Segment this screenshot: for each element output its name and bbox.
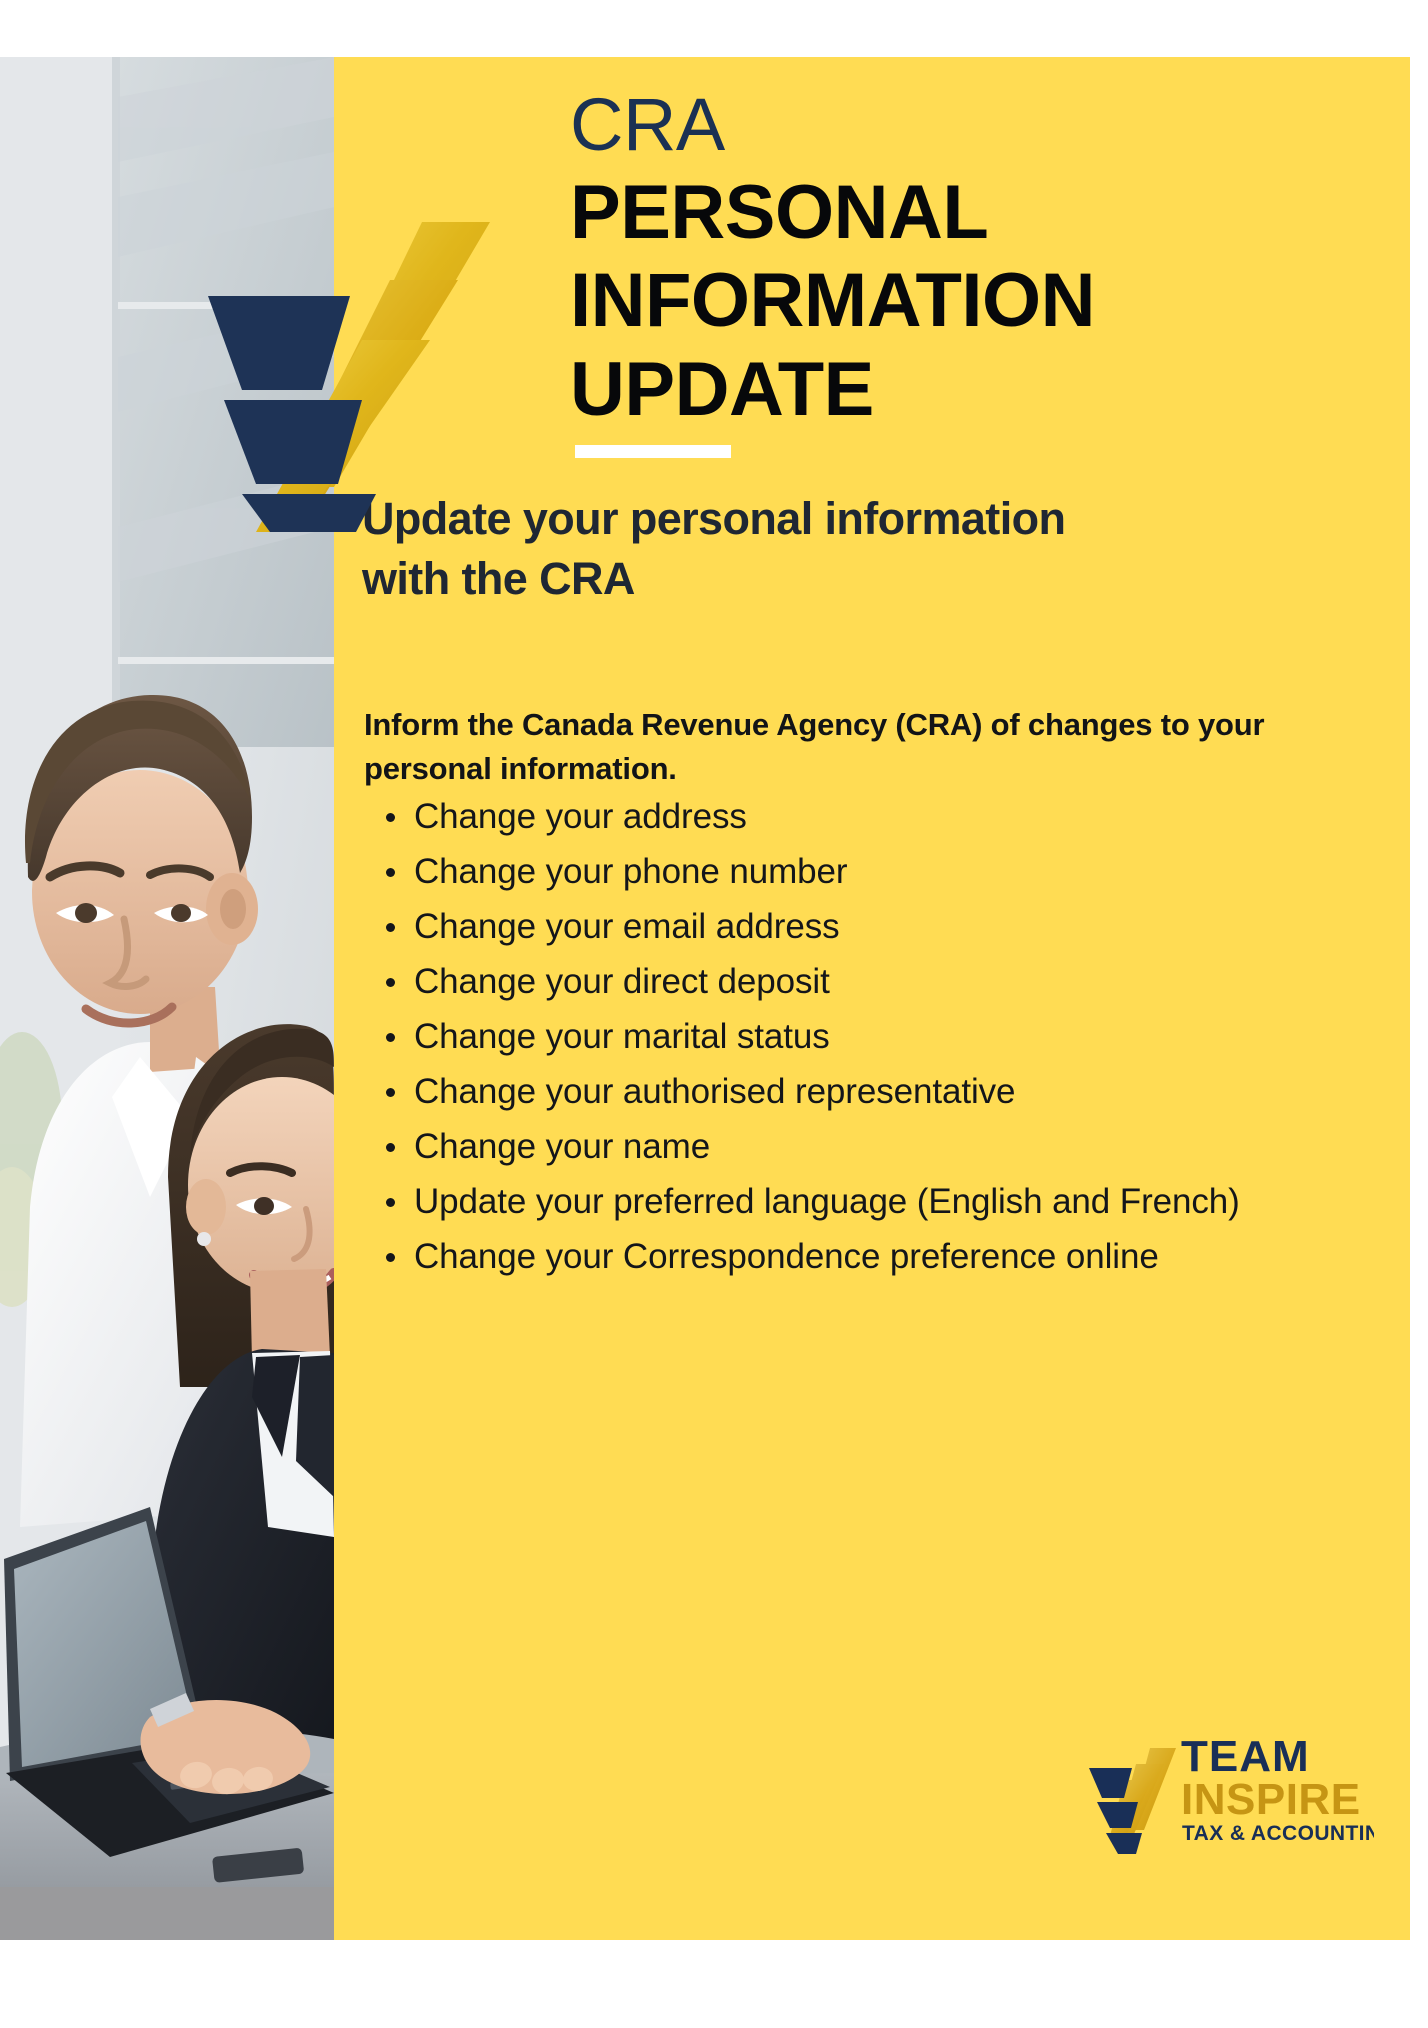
hero-photo-illustration xyxy=(0,57,334,1940)
list-item: Change your name xyxy=(414,1125,1410,1170)
hero-photo xyxy=(0,57,334,1940)
logo-word-inspire: INSPIRE xyxy=(1181,1775,1361,1824)
benefits-list: Change your address Change your phone nu… xyxy=(356,795,1410,1290)
logo-word-team: TEAM xyxy=(1181,1732,1310,1781)
headline-underline-rule xyxy=(575,445,731,458)
list-item: Change your address xyxy=(414,795,1410,840)
list-item: Change your Correspondence preference on… xyxy=(414,1235,1410,1280)
headline-block: CRA PERSONAL INFORMATION UPDATE xyxy=(570,82,1370,458)
list-item: Change your phone number xyxy=(414,850,1410,895)
list-item: Update your preferred language (English … xyxy=(414,1180,1410,1225)
headline-line-update: UPDATE xyxy=(570,346,1370,435)
headline-line-cra: CRA xyxy=(570,82,1370,169)
subtitle-text: Update your personal information with th… xyxy=(362,489,1102,609)
team-inspire-logo-svg: TEAM INSPIRE TAX & ACCOUNTING xyxy=(1084,1718,1374,1858)
logo-word-tagline: TAX & ACCOUNTING xyxy=(1182,1822,1374,1845)
headline-line-information: INFORMATION xyxy=(570,257,1370,346)
list-item: Change your direct deposit xyxy=(414,960,1410,1005)
list-item: Change your email address xyxy=(414,905,1410,950)
intro-paragraph: Inform the Canada Revenue Agency (CRA) o… xyxy=(364,703,1364,792)
team-inspire-logo: TEAM INSPIRE TAX & ACCOUNTING xyxy=(1084,1718,1374,1858)
headline-line-personal: PERSONAL xyxy=(570,169,1370,258)
list-item: Change your marital status xyxy=(414,1015,1410,1060)
list-item: Change your authorised representative xyxy=(414,1070,1410,1115)
content-panel: CRA PERSONAL INFORMATION UPDATE Update y… xyxy=(334,57,1410,1940)
poster-canvas: CRA PERSONAL INFORMATION UPDATE Update y… xyxy=(0,57,1410,1940)
